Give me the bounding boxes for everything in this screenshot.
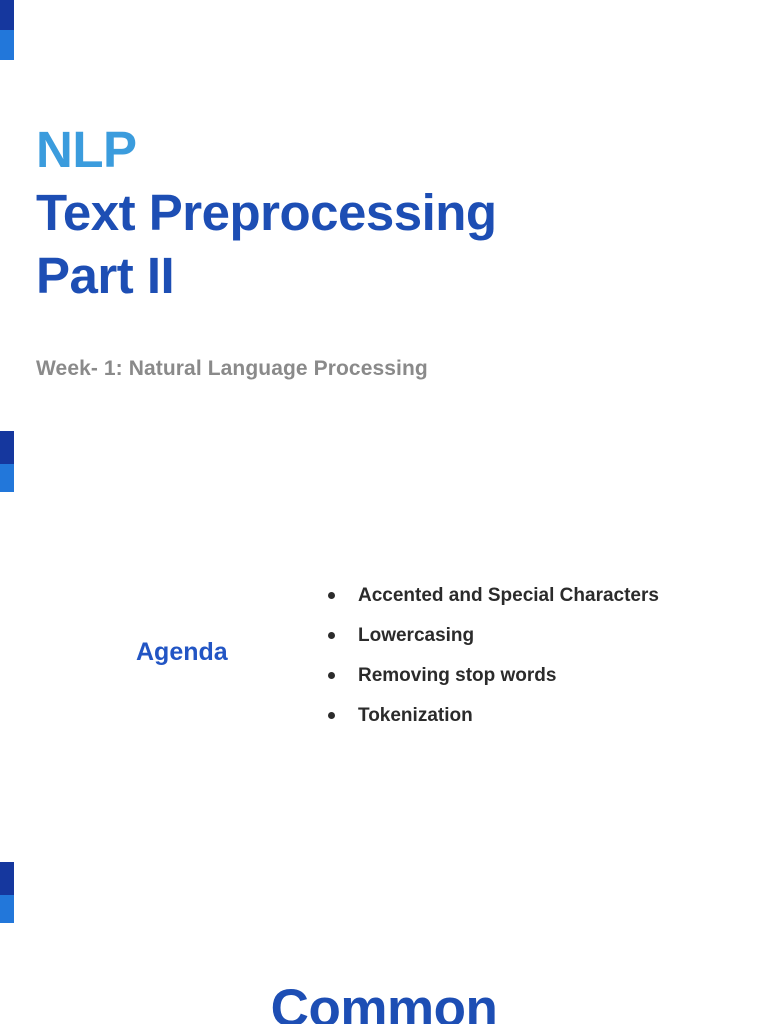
bullet-point-icon — [328, 592, 335, 599]
accent-bar-bottom-dark-segment — [0, 862, 14, 895]
title-line-text-preprocessing: Text Preprocessing — [36, 181, 696, 244]
agenda-list: Accented and Special Characters Lowercas… — [326, 583, 659, 743]
accent-bar-bottom — [0, 862, 14, 923]
agenda-item-label: Tokenization — [358, 705, 473, 726]
bullet-point-icon — [328, 712, 335, 719]
slide-subtitle: Week- 1: Natural Language Processing — [36, 357, 428, 381]
list-item: Accented and Special Characters — [326, 583, 659, 623]
accent-bar-middle-light-segment — [0, 464, 14, 492]
accent-bar-top-dark-segment — [0, 0, 14, 30]
agenda-item-label: Lowercasing — [358, 625, 474, 646]
bullet-point-icon — [328, 632, 335, 639]
agenda-heading: Agenda — [136, 638, 228, 667]
accent-bar-middle-dark-segment — [0, 431, 14, 464]
accent-bar-bottom-light-segment — [0, 895, 14, 923]
agenda-item-label: Removing stop words — [358, 665, 556, 686]
next-slide-title: Common — [0, 978, 768, 1024]
slide-page: NLP Text Preprocessing Part II Week- 1: … — [0, 0, 768, 1024]
title-line-part-two: Part II — [36, 244, 696, 307]
bullet-point-icon — [328, 672, 335, 679]
agenda-section: Agenda Accented and Special Characters L… — [0, 575, 768, 740]
list-item: Removing stop words — [326, 663, 659, 703]
agenda-item-label: Accented and Special Characters — [358, 585, 659, 606]
accent-bar-middle — [0, 431, 14, 492]
list-item: Lowercasing — [326, 623, 659, 663]
slide-title-block: NLP Text Preprocessing Part II — [36, 118, 696, 307]
title-line-nlp: NLP — [36, 118, 696, 181]
accent-bar-top-light-segment — [0, 30, 14, 60]
list-item: Tokenization — [326, 703, 659, 743]
accent-bar-top — [0, 0, 14, 60]
